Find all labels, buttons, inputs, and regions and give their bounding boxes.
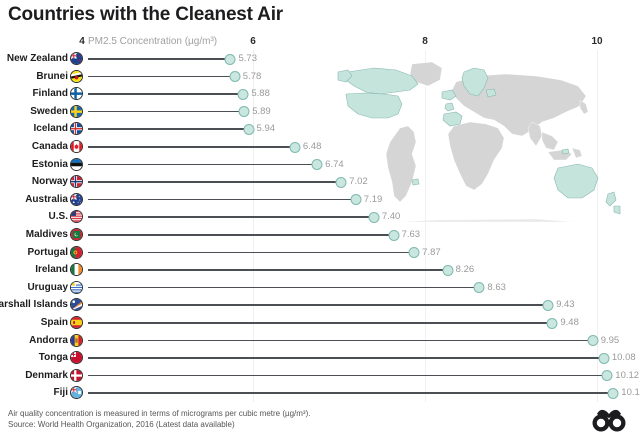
chart-row: Fiji10.19 — [0, 384, 640, 402]
flag-icon-uruguay — [70, 281, 83, 294]
lollipop-stem — [88, 93, 243, 95]
value-label: 7.19 — [364, 194, 383, 205]
x-axis-tick: 10 — [591, 36, 602, 47]
lollipop-dot[interactable] — [368, 212, 379, 223]
chart-root: Countries with the Cleanest Air PM2.5 Co… — [0, 0, 640, 440]
lollipop-dot[interactable] — [239, 106, 250, 117]
lollipop-dot[interactable] — [409, 247, 420, 258]
lollipop-stem — [88, 58, 230, 60]
x-axis-tick: 6 — [250, 36, 256, 47]
value-label: 9.48 — [560, 317, 579, 328]
lollipop-dot[interactable] — [289, 142, 300, 153]
chart-row: Tonga10.08 — [0, 349, 640, 367]
value-label: 7.40 — [382, 211, 401, 222]
value-label: 5.73 — [238, 53, 257, 64]
lollipop-stem — [88, 146, 295, 148]
flag-icon-finland — [70, 87, 83, 100]
lollipop-stem — [88, 234, 394, 236]
country-label: Tonga — [39, 352, 68, 363]
country-label: Andorra — [29, 335, 68, 346]
lollipop-stem — [88, 199, 356, 201]
value-label: 8.26 — [456, 264, 475, 275]
chart-row: New Zealand5.73 — [0, 50, 640, 68]
lollipop-dot[interactable] — [225, 54, 236, 65]
flag-icon-canada — [70, 140, 83, 153]
lollipop-stem — [88, 128, 249, 130]
flag-icon-estonia — [70, 158, 83, 171]
footer-notes: Air quality concentration is measured in… — [8, 408, 310, 430]
chart-row: Sweden5.89 — [0, 103, 640, 121]
chart-row: Canada6.48 — [0, 138, 640, 156]
flag-icon-fiji — [70, 386, 83, 399]
country-label: Australia — [25, 194, 68, 205]
chart-row: Portugal7.87 — [0, 244, 640, 262]
country-label: Portugal — [27, 247, 68, 258]
flag-icon-brunei — [70, 70, 83, 83]
value-label: 10.19 — [621, 387, 640, 398]
lollipop-stem — [88, 269, 448, 271]
lollipop-dot[interactable] — [608, 388, 619, 399]
lollipop-stem — [88, 76, 235, 78]
lollipop-stem — [88, 111, 244, 113]
lollipop-stem — [88, 357, 604, 359]
flag-icon-sweden — [70, 105, 83, 118]
value-label: 9.43 — [556, 299, 575, 310]
flag-icon-norway — [70, 175, 83, 188]
lollipop-dot[interactable] — [336, 177, 347, 188]
chart-row: Denmark10.12 — [0, 367, 640, 385]
lollipop-stem — [88, 252, 414, 254]
lollipop-stem — [88, 181, 341, 183]
value-label: 6.48 — [303, 141, 322, 152]
chart-row: Australia7.19 — [0, 191, 640, 209]
chart-row: Andorra9.95 — [0, 332, 640, 350]
footer-source: Source: World Health Organization, 2016 … — [8, 419, 310, 430]
value-label: 8.63 — [487, 282, 506, 293]
page-title: Countries with the Cleanest Air — [8, 4, 283, 26]
lollipop-dot[interactable] — [238, 89, 249, 100]
lollipop-dot[interactable] — [243, 124, 254, 135]
lollipop-stem — [88, 164, 317, 166]
lollipop-stem — [88, 375, 607, 377]
country-label: Maldives — [26, 229, 68, 240]
country-label: Sweden — [30, 106, 68, 117]
lollipop-stem — [88, 287, 479, 289]
binoculars-logo — [592, 408, 626, 434]
value-label: 7.63 — [402, 229, 421, 240]
chart-row: Maldives7.63 — [0, 226, 640, 244]
flag-icon-tonga — [70, 351, 83, 364]
flag-icon-maldives — [70, 228, 83, 241]
flag-icon-iceland — [70, 122, 83, 135]
chart-row: Norway7.02 — [0, 173, 640, 191]
country-label: Finland — [32, 88, 68, 99]
lollipop-dot[interactable] — [442, 265, 453, 276]
flag-icon-andorra — [70, 334, 83, 347]
country-label: Brunei — [36, 71, 68, 82]
country-label: Canada — [32, 141, 68, 152]
value-label: 9.95 — [601, 335, 620, 346]
country-label: U.S. — [49, 211, 68, 222]
lollipop-dot[interactable] — [602, 370, 613, 381]
flag-icon-spain — [70, 316, 83, 329]
lollipop-stem — [88, 322, 552, 324]
value-label: 5.78 — [243, 71, 262, 82]
flag-icon-australia — [70, 193, 83, 206]
value-label: 10.08 — [612, 352, 636, 363]
value-label: 10.12 — [615, 370, 639, 381]
country-label: Norway — [32, 176, 68, 187]
flag-icon-new-zealand — [70, 52, 83, 65]
lollipop-stem — [88, 216, 374, 218]
lollipop-dot[interactable] — [543, 300, 554, 311]
chart-row: Marshall Islands9.43 — [0, 296, 640, 314]
footer-note: Air quality concentration is measured in… — [8, 408, 310, 419]
lollipop-stem — [88, 392, 613, 394]
value-label: 7.87 — [422, 247, 441, 258]
lollipop-dot[interactable] — [312, 159, 323, 170]
x-axis-label: PM2.5 Concentration (µg/m³) — [88, 36, 217, 47]
lollipop-dot[interactable] — [350, 194, 361, 205]
value-label: 7.02 — [349, 176, 368, 187]
lollipop-dot[interactable] — [474, 282, 485, 293]
lollipop-dot[interactable] — [229, 71, 240, 82]
chart-row: Iceland5.94 — [0, 120, 640, 138]
x-axis-tick: 4 — [79, 36, 85, 47]
chart-row: Brunei5.78 — [0, 68, 640, 86]
lollipop-dot[interactable] — [598, 353, 609, 364]
country-label: Fiji — [54, 387, 68, 398]
country-label: Spain — [41, 317, 68, 328]
chart-row: Ireland8.26 — [0, 261, 640, 279]
country-label: Estonia — [32, 159, 68, 170]
value-label: 5.88 — [251, 88, 270, 99]
lollipop-stem — [88, 340, 593, 342]
lollipop-dot[interactable] — [547, 318, 558, 329]
lollipop-dot[interactable] — [587, 335, 598, 346]
chart-row: Estonia6.74 — [0, 156, 640, 174]
value-label: 5.94 — [257, 123, 276, 134]
flag-icon-denmark — [70, 369, 83, 382]
lollipop-dot[interactable] — [388, 230, 399, 241]
chart-row: U.S.7.40 — [0, 208, 640, 226]
value-label: 5.89 — [252, 106, 271, 117]
country-label: Denmark — [25, 370, 68, 381]
country-label: Ireland — [35, 264, 68, 275]
country-label: Marshall Islands — [0, 299, 68, 310]
flag-icon-ireland — [70, 263, 83, 276]
lollipop-stem — [88, 304, 548, 306]
flag-icon-portugal — [70, 246, 83, 259]
x-axis-tick: 8 — [422, 36, 428, 47]
value-label: 6.74 — [325, 159, 344, 170]
country-label: Iceland — [34, 123, 68, 134]
chart-row: Finland5.88 — [0, 85, 640, 103]
country-label: New Zealand — [7, 53, 68, 64]
chart-row: Uruguay8.63 — [0, 279, 640, 297]
chart-row: Spain9.48 — [0, 314, 640, 332]
flag-icon-united-states — [70, 210, 83, 223]
lollipop-rows: New Zealand5.73Brunei5.78Finland5.88Swed… — [0, 50, 640, 406]
flag-icon-marshall-islands — [70, 298, 83, 311]
country-label: Uruguay — [27, 282, 68, 293]
